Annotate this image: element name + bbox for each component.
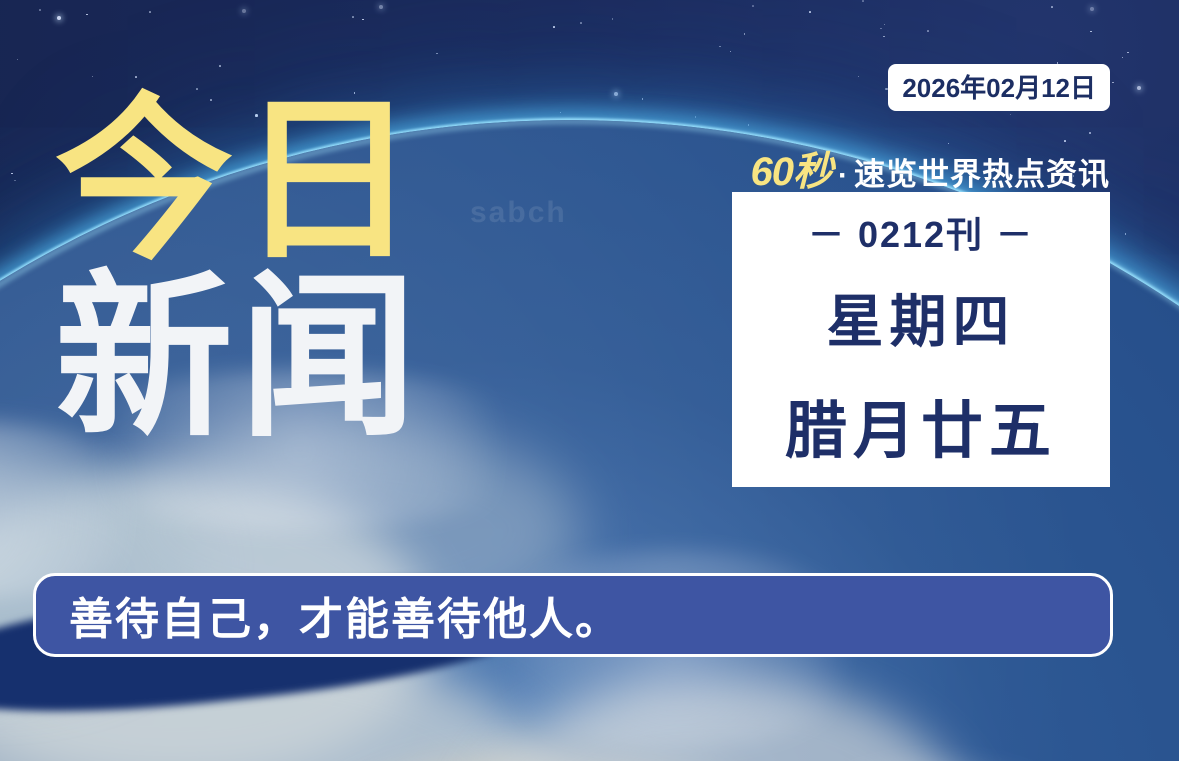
lunar-date-label: 腊月廿五	[785, 380, 1057, 470]
quote-text: 善待自己，才能善待他人。	[69, 583, 621, 647]
issue-number: － 0212刊 －	[808, 206, 1034, 258]
weekday-label: 星期四	[827, 276, 1016, 358]
tagline-separator: ·	[838, 159, 848, 193]
quote-bar: 善待自己，才能善待他人。	[33, 573, 1113, 657]
info-card: － 0212刊 － 星期四 腊月廿五	[732, 192, 1110, 487]
news-poster: sabch 今日 新闻 2026年02月12日 60秒 · 速览世界热点资讯 －…	[0, 0, 1179, 761]
page-title: 今日 新闻	[55, 96, 423, 444]
date-badge: 2026年02月12日	[888, 64, 1110, 111]
title-line-news: 新闻	[55, 273, 423, 444]
tagline-seconds: 60秒	[751, 139, 833, 197]
tagline-description: 速览世界热点资讯	[854, 149, 1110, 194]
title-line-today: 今日	[55, 96, 423, 267]
tagline: 60秒 · 速览世界热点资讯	[751, 139, 1111, 197]
watermark-text: sabch	[470, 196, 567, 230]
